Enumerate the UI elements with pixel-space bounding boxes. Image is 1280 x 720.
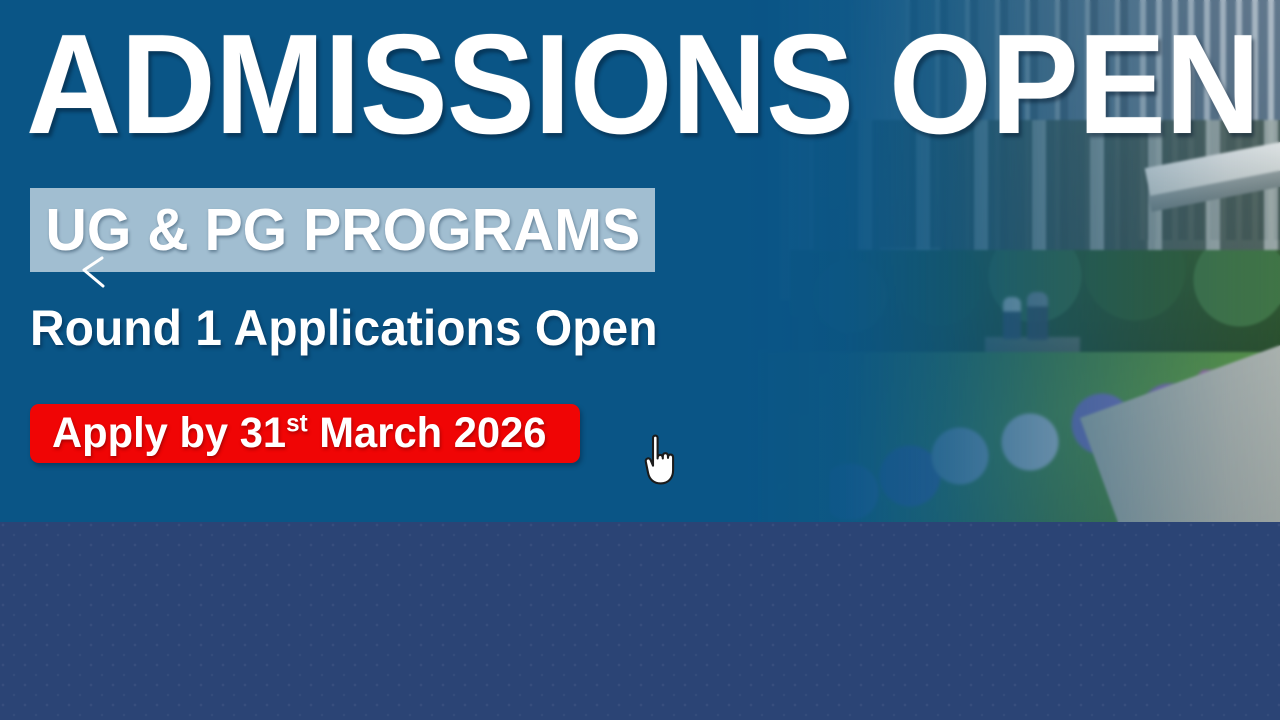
- screenshot-stage: ADMISSIONS OPEN 2026 UG & PG PROGRAMS Ro…: [0, 0, 1280, 720]
- banner-headline: ADMISSIONS OPEN 2026: [26, 14, 1280, 156]
- apply-now-cta-button[interactable]: Apply by 31st March 2026: [30, 404, 580, 463]
- cta-button-label: Apply by 31st March 2026: [52, 412, 547, 455]
- subtitle-highlight-band: UG & PG PROGRAMS: [30, 188, 655, 272]
- page-body-below-banner: [0, 522, 1280, 720]
- banner-tagline: Round 1 Applications Open: [30, 303, 658, 353]
- cta-label-suffix: March 2026: [308, 409, 547, 457]
- cta-label-prefix: Apply by 31: [52, 409, 286, 457]
- pointing-hand-cursor-icon: [638, 432, 690, 490]
- banner-content: ADMISSIONS OPEN 2026 UG & PG PROGRAMS Ro…: [0, 0, 1280, 522]
- banner-subtitle: UG & PG PROGRAMS: [30, 201, 640, 260]
- admissions-hero-banner[interactable]: ADMISSIONS OPEN 2026 UG & PG PROGRAMS Ro…: [0, 0, 1280, 522]
- cta-label-ordinal: st: [286, 410, 308, 438]
